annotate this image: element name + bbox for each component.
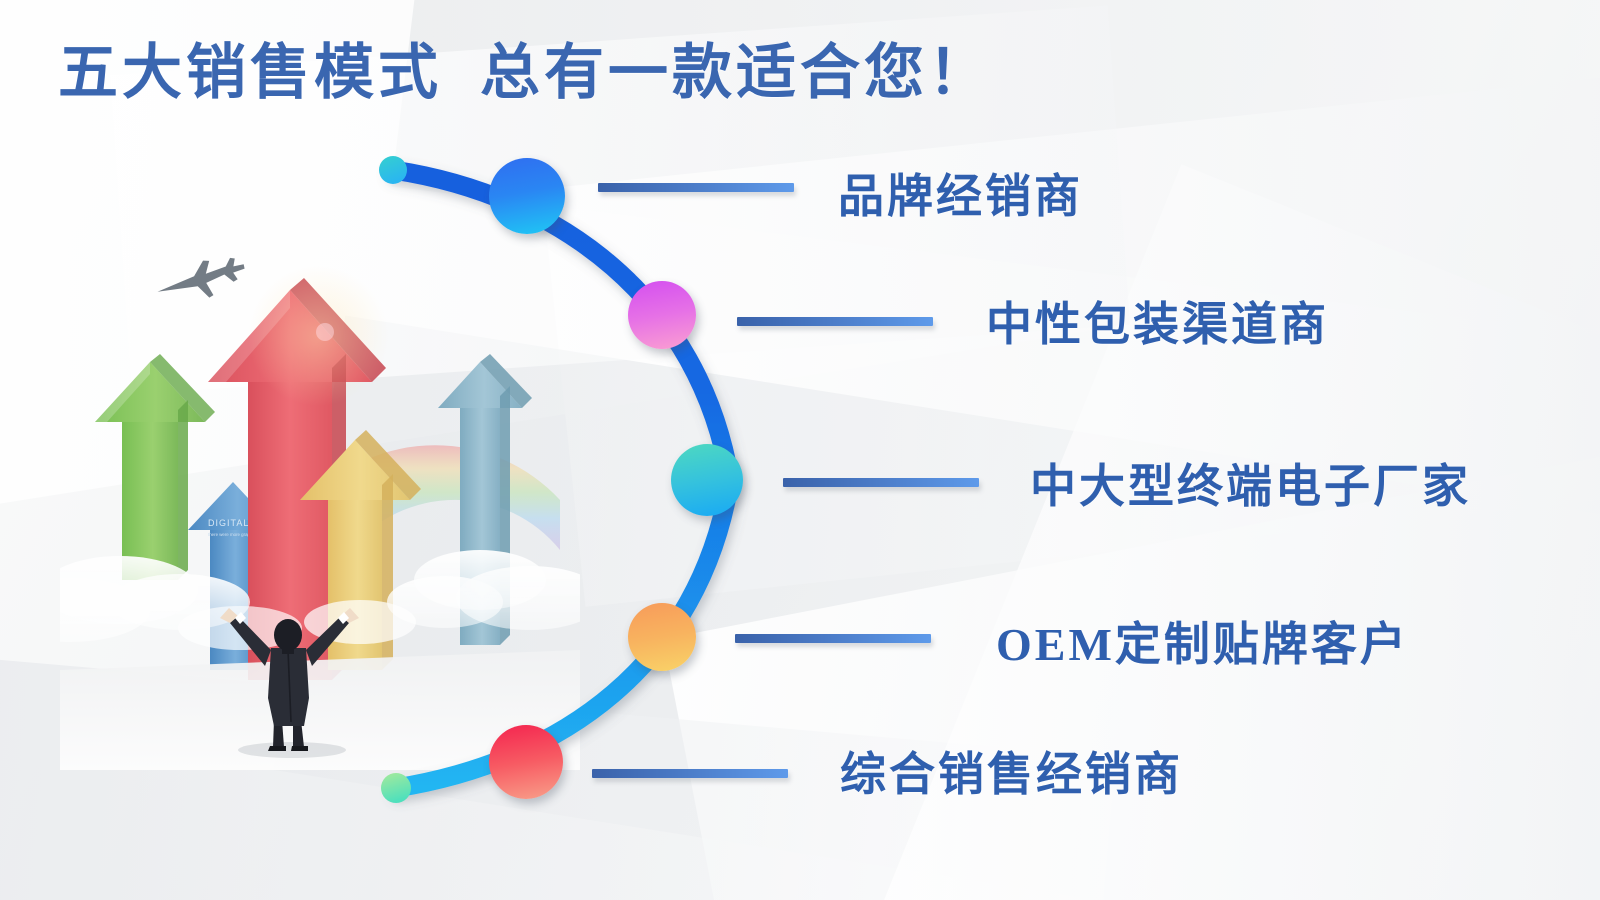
item-label-3[interactable]: 中大型终端电子厂家	[1030, 450, 1471, 516]
connector-bar-3	[783, 478, 979, 487]
connector-bar-4	[735, 634, 931, 643]
node-2[interactable]	[628, 281, 696, 349]
connector-bar-2	[737, 317, 933, 326]
growth-arrows-illustration: DIGITAL DREAM there were more graphics c…	[60, 250, 580, 770]
item-label-2[interactable]: 中性包装渠道商	[986, 288, 1329, 354]
node-1[interactable]	[489, 158, 565, 234]
slide-canvas: 五大销售模式 总有一款适合您！	[0, 0, 1600, 900]
node-4[interactable]	[628, 603, 696, 671]
item-label-4[interactable]: OEM定制贴牌客户	[996, 608, 1409, 674]
connector-bar-5	[592, 769, 788, 778]
airplane-icon	[153, 252, 249, 307]
page-title: 五大销售模式 总有一款适合您！	[58, 24, 992, 111]
item-label-5[interactable]: 综合销售经销商	[840, 738, 1183, 804]
green-arrow	[95, 354, 215, 580]
connector-bar-1	[598, 183, 794, 192]
item-label-1[interactable]: 品牌经销商	[838, 160, 1083, 226]
node-5[interactable]	[489, 725, 563, 799]
node-3[interactable]	[671, 444, 743, 516]
